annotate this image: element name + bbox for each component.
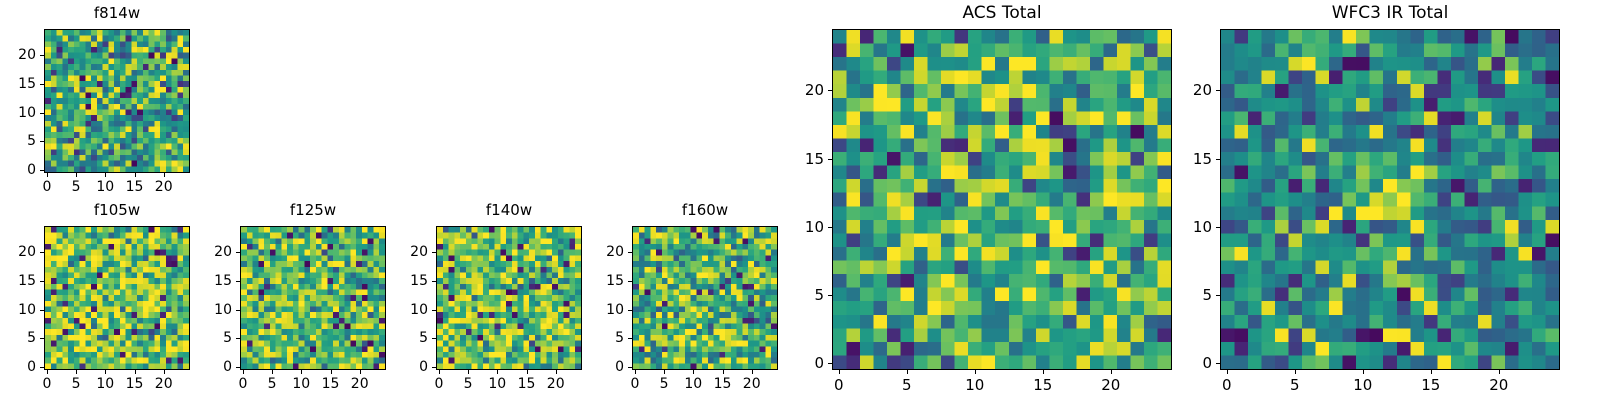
ytick-label-f140w-2: 10 [376,302,428,318]
ytick-label-acs-total-2: 10 [772,218,824,236]
ytick-mark-f140w-2 [432,310,436,311]
ytick-mark-f125w-2 [236,310,240,311]
xtick-label-f105w-1: 5 [72,376,81,392]
xtick-label-f140w-3: 15 [518,376,536,392]
xtick-mark-f814w-3 [135,173,136,177]
ytick-label-f140w-3: 15 [376,273,428,289]
xtick-mark-f814w-2 [105,173,106,177]
ytick-mark-f125w-0 [236,367,240,368]
ytick-label-wfc3-ir-total-2: 10 [1160,218,1212,236]
panel-f160w: f160w0510152005101520 [572,200,778,396]
ytick-mark-acs-total-2 [828,227,832,228]
ytick-label-f105w-0: 0 [0,359,36,375]
ytick-mark-wfc3-ir-total-2 [1216,227,1220,228]
xtick-mark-wfc3-ir-total-1 [1295,370,1296,374]
ytick-label-f140w-0: 0 [376,359,428,375]
ytick-label-f125w-1: 5 [180,330,232,346]
xtick-mark-f814w-0 [47,173,48,177]
xtick-mark-wfc3-ir-total-2 [1363,370,1364,374]
ytick-mark-acs-total-4 [828,90,832,91]
xtick-mark-f160w-0 [635,370,636,374]
xtick-label-f125w-4: 20 [351,376,369,392]
ytick-mark-wfc3-ir-total-4 [1216,90,1220,91]
xtick-label-wfc3-ir-total-0: 0 [1222,376,1232,394]
ytick-label-f814w-0: 0 [0,162,36,178]
xtick-label-wfc3-ir-total-4: 20 [1489,376,1508,394]
xtick-mark-f125w-2 [301,370,302,374]
ytick-mark-wfc3-ir-total-1 [1216,295,1220,296]
panel-acs-total: ACS Total0510152005101520 [772,3,1172,396]
xtick-label-f140w-2: 10 [488,376,506,392]
heatmap-wfc3-ir-total [1220,29,1560,370]
ytick-mark-f125w-4 [236,252,240,253]
ytick-mark-f814w-0 [40,170,44,171]
heatmap-canvas-wfc3-ir-total [1221,30,1559,369]
xtick-mark-acs-total-2 [975,370,976,374]
heatmap-f160w [632,226,778,370]
xtick-mark-f160w-2 [693,370,694,374]
panel-title-f140w: f140w [436,200,582,220]
panel-f125w: f125w0510152005101520 [180,200,386,396]
xtick-label-f160w-0: 0 [630,376,639,392]
xtick-mark-wfc3-ir-total-3 [1431,370,1432,374]
xtick-label-acs-total-4: 20 [1101,376,1120,394]
xtick-mark-acs-total-3 [1043,370,1044,374]
xtick-mark-f105w-4 [164,370,165,374]
xtick-mark-f160w-4 [752,370,753,374]
xtick-mark-acs-total-0 [839,370,840,374]
ytick-mark-f140w-4 [432,252,436,253]
heatmap-f105w [44,226,190,370]
ytick-mark-f105w-2 [40,310,44,311]
ytick-mark-f160w-4 [628,252,632,253]
xtick-mark-f140w-4 [556,370,557,374]
ytick-mark-f105w-3 [40,281,44,282]
panel-title-f105w: f105w [44,200,190,220]
ytick-label-f140w-1: 5 [376,330,428,346]
xtick-label-acs-total-1: 5 [902,376,912,394]
xtick-label-f160w-4: 20 [743,376,761,392]
xtick-label-f125w-1: 5 [268,376,277,392]
panel-f105w: f105w0510152005101520 [0,200,190,396]
ytick-label-wfc3-ir-total-3: 15 [1160,150,1212,168]
xtick-label-f814w-4: 20 [155,179,173,195]
xtick-mark-f814w-1 [76,173,77,177]
ytick-label-f105w-2: 10 [0,302,36,318]
xtick-label-f125w-3: 15 [322,376,340,392]
xtick-label-f814w-1: 5 [72,179,81,195]
xtick-mark-f105w-1 [76,370,77,374]
ytick-mark-acs-total-0 [828,363,832,364]
xtick-mark-acs-total-1 [907,370,908,374]
xtick-mark-f125w-4 [360,370,361,374]
xtick-label-f140w-4: 20 [547,376,565,392]
heatmap-canvas-f814w [45,30,189,172]
xtick-mark-f105w-0 [47,370,48,374]
ytick-label-f814w-1: 5 [0,133,36,149]
xtick-label-f814w-2: 10 [96,179,114,195]
ytick-label-f125w-2: 10 [180,302,232,318]
ytick-mark-f160w-3 [628,281,632,282]
heatmap-f814w [44,29,190,173]
panel-title-f814w: f814w [44,3,190,23]
panel-title-wfc3-ir-total: WFC3 IR Total [1220,3,1560,23]
xtick-label-f125w-0: 0 [238,376,247,392]
ytick-mark-f160w-2 [628,310,632,311]
heatmap-canvas-f125w [241,227,385,369]
ytick-mark-f140w-0 [432,367,436,368]
xtick-label-f814w-0: 0 [42,179,51,195]
xtick-mark-wfc3-ir-total-0 [1227,370,1228,374]
xtick-mark-f125w-1 [272,370,273,374]
xtick-label-acs-total-2: 10 [965,376,984,394]
ytick-mark-f814w-4 [40,55,44,56]
xtick-mark-f125w-0 [243,370,244,374]
ytick-mark-f140w-1 [432,338,436,339]
ytick-label-f105w-4: 20 [0,244,36,260]
xtick-mark-f160w-1 [664,370,665,374]
heatmap-canvas-f160w [633,227,777,369]
xtick-mark-f105w-2 [105,370,106,374]
panel-wfc3-ir-total: WFC3 IR Total0510152005101520 [1160,3,1560,396]
ytick-label-f125w-0: 0 [180,359,232,375]
xtick-label-wfc3-ir-total-3: 15 [1421,376,1440,394]
heatmap-acs-total [832,29,1172,370]
xtick-mark-f140w-2 [497,370,498,374]
ytick-label-f160w-4: 20 [572,244,624,260]
ytick-label-f160w-1: 5 [572,330,624,346]
ytick-label-f105w-1: 5 [0,330,36,346]
xtick-mark-f125w-3 [331,370,332,374]
ytick-mark-f160w-1 [628,338,632,339]
xtick-mark-f105w-3 [135,370,136,374]
xtick-label-f105w-4: 20 [155,376,173,392]
xtick-mark-f160w-3 [723,370,724,374]
ytick-label-acs-total-1: 5 [772,286,824,304]
ytick-mark-acs-total-3 [828,159,832,160]
ytick-mark-f105w-4 [40,252,44,253]
heatmap-canvas-f105w [45,227,189,369]
ytick-label-f125w-4: 20 [180,244,232,260]
xtick-mark-wfc3-ir-total-4 [1499,370,1500,374]
ytick-mark-wfc3-ir-total-3 [1216,159,1220,160]
panel-f140w: f140w0510152005101520 [376,200,582,396]
ytick-label-f160w-0: 0 [572,359,624,375]
xtick-mark-f140w-3 [527,370,528,374]
ytick-label-f160w-3: 15 [572,273,624,289]
ytick-mark-f814w-3 [40,84,44,85]
xtick-mark-f140w-1 [468,370,469,374]
ytick-mark-f814w-2 [40,113,44,114]
xtick-label-f160w-1: 5 [660,376,669,392]
xtick-mark-f814w-4 [164,173,165,177]
panel-title-f125w: f125w [240,200,386,220]
ytick-label-wfc3-ir-total-1: 5 [1160,286,1212,304]
ytick-label-f160w-2: 10 [572,302,624,318]
panel-title-f160w: f160w [632,200,778,220]
xtick-label-f105w-3: 15 [126,376,144,392]
ytick-mark-acs-total-1 [828,295,832,296]
xtick-label-wfc3-ir-total-1: 5 [1290,376,1300,394]
ytick-mark-f105w-0 [40,367,44,368]
ytick-label-acs-total-0: 0 [772,354,824,372]
ytick-mark-f125w-3 [236,281,240,282]
heatmap-f125w [240,226,386,370]
ytick-label-f814w-3: 15 [0,76,36,92]
ytick-label-f814w-2: 10 [0,105,36,121]
ytick-mark-f814w-1 [40,141,44,142]
ytick-label-acs-total-4: 20 [772,81,824,99]
ytick-label-wfc3-ir-total-0: 0 [1160,354,1212,372]
ytick-mark-f125w-1 [236,338,240,339]
xtick-mark-f140w-0 [439,370,440,374]
xtick-label-acs-total-3: 15 [1033,376,1052,394]
xtick-label-f160w-3: 15 [714,376,732,392]
ytick-label-f105w-3: 15 [0,273,36,289]
xtick-label-f125w-2: 10 [292,376,310,392]
ytick-mark-f160w-0 [628,367,632,368]
ytick-label-f125w-3: 15 [180,273,232,289]
xtick-label-acs-total-0: 0 [834,376,844,394]
ytick-mark-wfc3-ir-total-0 [1216,363,1220,364]
panel-f814w: f814w0510152005101520 [0,3,190,199]
xtick-mark-acs-total-4 [1111,370,1112,374]
ytick-label-acs-total-3: 15 [772,150,824,168]
xtick-label-f814w-3: 15 [126,179,144,195]
heatmap-f140w [436,226,582,370]
heatmap-canvas-f140w [437,227,581,369]
xtick-label-wfc3-ir-total-2: 10 [1353,376,1372,394]
xtick-label-f105w-2: 10 [96,376,114,392]
ytick-label-f814w-4: 20 [0,47,36,63]
panel-title-acs-total: ACS Total [832,3,1172,23]
ytick-label-wfc3-ir-total-4: 20 [1160,81,1212,99]
xtick-label-f160w-2: 10 [684,376,702,392]
xtick-label-f140w-1: 5 [464,376,473,392]
ytick-mark-f105w-1 [40,338,44,339]
figure-canvas: f814w0510152005101520f105w05101520051015… [0,0,1600,400]
xtick-label-f140w-0: 0 [434,376,443,392]
xtick-label-f105w-0: 0 [42,376,51,392]
heatmap-canvas-acs-total [833,30,1171,369]
ytick-label-f140w-4: 20 [376,244,428,260]
ytick-mark-f140w-3 [432,281,436,282]
